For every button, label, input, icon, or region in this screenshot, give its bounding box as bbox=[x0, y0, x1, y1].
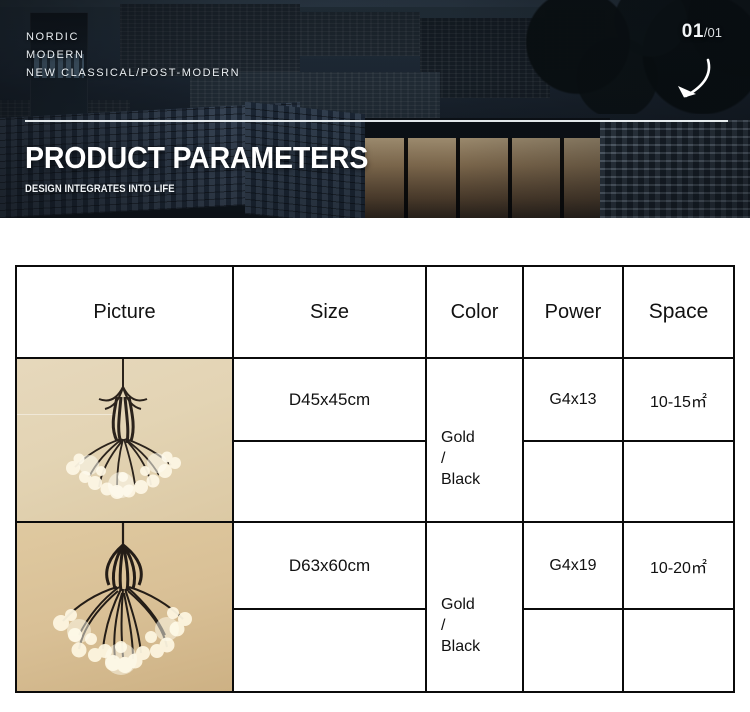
table-header-size-label: Size bbox=[310, 301, 349, 324]
table-cell-power: G4x19 bbox=[524, 523, 622, 608]
color-line-black: Black bbox=[441, 636, 480, 657]
curved-down-arrow-icon bbox=[660, 56, 720, 106]
table-cell-color: Gold / Black bbox=[427, 523, 522, 691]
chandelier-illustration-small bbox=[17, 359, 232, 521]
table-row[interactable] bbox=[17, 523, 232, 691]
row-inner-divider bbox=[522, 440, 733, 442]
color-line-gold: Gold bbox=[441, 594, 480, 615]
hero-banner: NORDIC MODERN NEW CLASSICAL/POST-MODERN … bbox=[0, 0, 750, 218]
table-header-power: Power bbox=[524, 267, 622, 357]
page-indicator-total: /01 bbox=[704, 25, 722, 40]
table-header-color-label: Color bbox=[451, 301, 499, 324]
page-title: PRODUCT PARAMETERS bbox=[25, 140, 368, 176]
table-header-size: Size bbox=[234, 267, 425, 357]
table-header-space: Space bbox=[624, 267, 733, 357]
hero-divider-line bbox=[25, 120, 728, 122]
color-line-separator: / bbox=[441, 615, 480, 636]
table-header-power-label: Power bbox=[545, 301, 602, 324]
hero-eyebrow-line-2: MODERN bbox=[26, 46, 240, 64]
table-cell-color-value: Gold / Black bbox=[427, 594, 480, 657]
page-indicator: 01/01 bbox=[682, 21, 722, 43]
table-cell-space-value: 10-20㎡ bbox=[650, 554, 707, 578]
table-cell-space-value: 10-15㎡ bbox=[650, 388, 707, 412]
table-header-picture-label: Picture bbox=[93, 301, 155, 324]
chandelier-illustration-large bbox=[17, 523, 232, 691]
color-line-black: Black bbox=[441, 469, 480, 490]
product-parameters-table: Picture Size Color Power Space bbox=[15, 265, 735, 693]
row-inner-divider bbox=[522, 608, 733, 610]
table-cell-space: 10-20㎡ bbox=[624, 523, 733, 608]
color-line-separator: / bbox=[441, 448, 480, 469]
table-row[interactable] bbox=[17, 359, 232, 521]
table-cell-size-value: D45x45cm bbox=[289, 390, 370, 410]
table-cell-space: 10-15㎡ bbox=[624, 359, 733, 440]
hero-eyebrow: NORDIC MODERN NEW CLASSICAL/POST-MODERN bbox=[26, 28, 240, 82]
page-footer-space bbox=[0, 693, 750, 712]
table-cell-color: Gold / Black bbox=[427, 359, 522, 521]
table-cell-power-value: G4x19 bbox=[549, 557, 596, 575]
hero-eyebrow-line-1: NORDIC bbox=[26, 28, 240, 46]
table-cell-power: G4x13 bbox=[524, 359, 622, 440]
table-cell-color-value: Gold / Black bbox=[427, 427, 480, 490]
table-cell-power-value: G4x13 bbox=[549, 391, 596, 409]
table-cell-size: D63x60cm bbox=[234, 523, 425, 608]
page-indicator-current: 01 bbox=[682, 21, 704, 42]
hero-eyebrow-line-3: NEW CLASSICAL/POST-MODERN bbox=[26, 64, 240, 82]
table-cell-size: D45x45cm bbox=[234, 359, 425, 440]
table-header-space-label: Space bbox=[649, 300, 709, 324]
table-header-picture: Picture bbox=[17, 267, 232, 357]
table-header-color: Color bbox=[427, 267, 522, 357]
page-subtitle: DESIGN INTEGRATES INTO LIFE bbox=[25, 183, 175, 195]
color-line-gold: Gold bbox=[441, 427, 480, 448]
table-cell-size-value: D63x60cm bbox=[289, 556, 370, 576]
